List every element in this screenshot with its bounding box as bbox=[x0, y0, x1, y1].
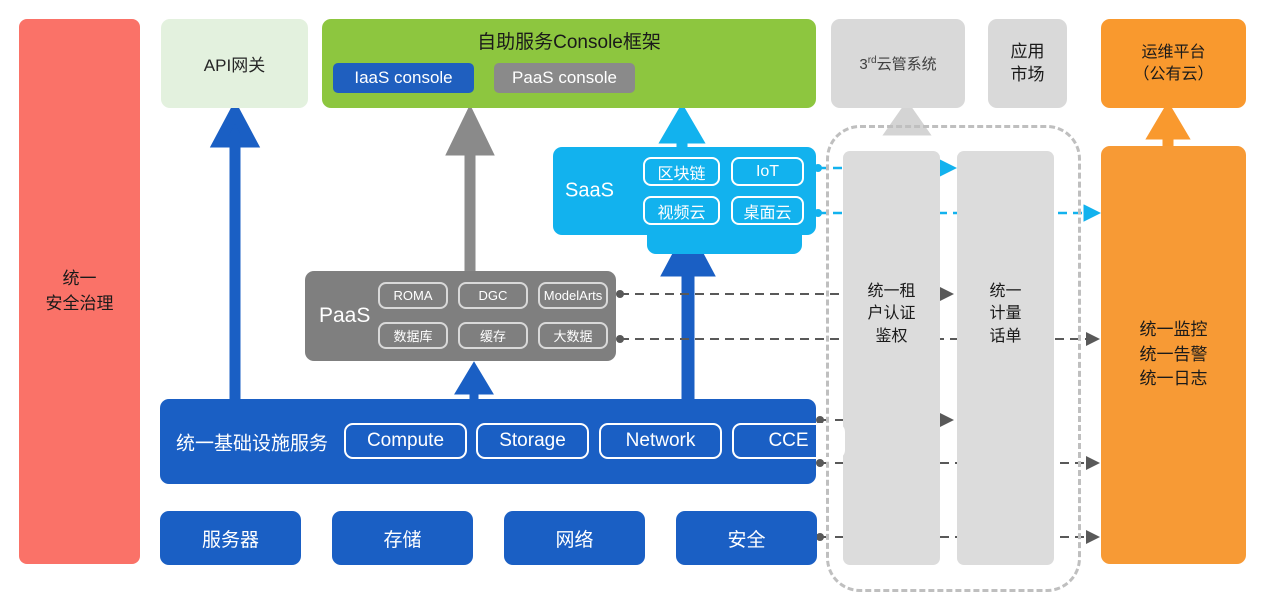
ops-body-line-2: 统一告警 bbox=[1140, 343, 1208, 368]
app-market-line-1: 应用 bbox=[1011, 41, 1045, 63]
shared-service-metering-label: 统一 计量 话单 bbox=[957, 281, 1054, 348]
resource-tile-network[interactable]: 网络 bbox=[504, 511, 645, 565]
arrow-infra-to-saas bbox=[671, 238, 705, 399]
infra-item-storage[interactable]: Storage bbox=[476, 423, 589, 459]
infra-item-cce[interactable]: CCE bbox=[732, 423, 845, 459]
unified-security-governance-panel[interactable]: 统一 安全治理 bbox=[19, 19, 140, 564]
app-market-line-2: 市场 bbox=[1011, 64, 1045, 86]
infra-item-network[interactable]: Network bbox=[599, 423, 722, 459]
governance-line-2: 安全治理 bbox=[46, 292, 114, 317]
paas-item-bigdata[interactable]: 大数据 bbox=[538, 322, 608, 349]
ops-platform-body-panel[interactable]: 统一监控 统一告警 统一日志 bbox=[1101, 146, 1246, 564]
shared-service-column-auth bbox=[843, 151, 940, 565]
architecture-diagram: 统一租 户认证 鉴权 统一 计量 话单 统一 安全治理 API网关 自助服务Co… bbox=[0, 0, 1265, 605]
paas-item-modelarts[interactable]: ModelArts bbox=[538, 282, 608, 309]
api-gateway-box[interactable]: API网关 bbox=[161, 19, 308, 108]
resource-tile-storage[interactable]: 存储 bbox=[332, 511, 473, 565]
infra-item-compute[interactable]: Compute bbox=[344, 423, 467, 459]
saas-layer-label: SaaS bbox=[565, 180, 614, 203]
resource-tile-server[interactable]: 服务器 bbox=[160, 511, 301, 565]
ops-platform-header-line-1: 运维平台 bbox=[1133, 42, 1213, 64]
governance-line-1: 统一 bbox=[46, 267, 114, 292]
api-gateway-label: API网关 bbox=[204, 51, 265, 76]
ops-platform-header-line-2: （公有云） bbox=[1133, 64, 1213, 86]
ops-platform-header-box[interactable]: 运维平台 （公有云） bbox=[1101, 19, 1246, 108]
saas-item-blockchain[interactable]: 区块链 bbox=[643, 157, 720, 186]
saas-item-iot[interactable]: IoT bbox=[731, 157, 804, 186]
arrow-infra-to-paas bbox=[462, 370, 486, 399]
third-party-label: 3rd云管系统 bbox=[859, 53, 936, 74]
arrow-saas-to-saasconsole bbox=[668, 114, 696, 147]
paas-item-roma[interactable]: ROMA bbox=[378, 282, 448, 309]
resource-tile-security[interactable]: 安全 bbox=[676, 511, 817, 565]
shared-service-auth-label: 统一租 户认证 鉴权 bbox=[843, 281, 940, 348]
console-frame-title: 自助服务Console框架 bbox=[322, 27, 816, 54]
paas-layer-box: PaaS ROMA DGC ModelArts 数据库 缓存 大数据 bbox=[305, 271, 616, 361]
saas-item-video-cloud[interactable]: 视频云 bbox=[643, 196, 720, 225]
saas-layer-box: SaaS 区块链 IoT 视频云 桌面云 bbox=[553, 147, 816, 235]
shared-service-column-metering bbox=[957, 151, 1054, 565]
paas-item-cache[interactable]: 缓存 bbox=[458, 322, 528, 349]
arrow-into-ops-platform bbox=[1155, 112, 1181, 146]
ops-body-line-3: 统一日志 bbox=[1140, 367, 1208, 392]
saas-item-desktop-cloud[interactable]: 桌面云 bbox=[731, 196, 804, 225]
paas-item-dgc[interactable]: DGC bbox=[458, 282, 528, 309]
paas-console-button[interactable]: PaaS console bbox=[494, 63, 635, 93]
unified-infrastructure-bar: 统一基础设施服务 Compute Storage Network CCE bbox=[160, 399, 816, 484]
third-party-cloud-management-box[interactable]: 3rd云管系统 bbox=[831, 19, 965, 108]
paas-item-database[interactable]: 数据库 bbox=[378, 322, 448, 349]
arrow-infra-to-apigw bbox=[219, 112, 251, 399]
ops-body-line-1: 统一监控 bbox=[1140, 318, 1208, 343]
app-market-box[interactable]: 应用 市场 bbox=[988, 19, 1067, 108]
arrow-paas-to-console bbox=[454, 117, 486, 271]
iaas-console-button[interactable]: IaaS console bbox=[333, 63, 474, 93]
infrastructure-label: 统一基础设施服务 bbox=[176, 428, 328, 455]
self-service-console-frame: 自助服务Console框架 IaaS console PaaS console … bbox=[322, 19, 816, 108]
paas-layer-label: PaaS bbox=[319, 304, 370, 328]
